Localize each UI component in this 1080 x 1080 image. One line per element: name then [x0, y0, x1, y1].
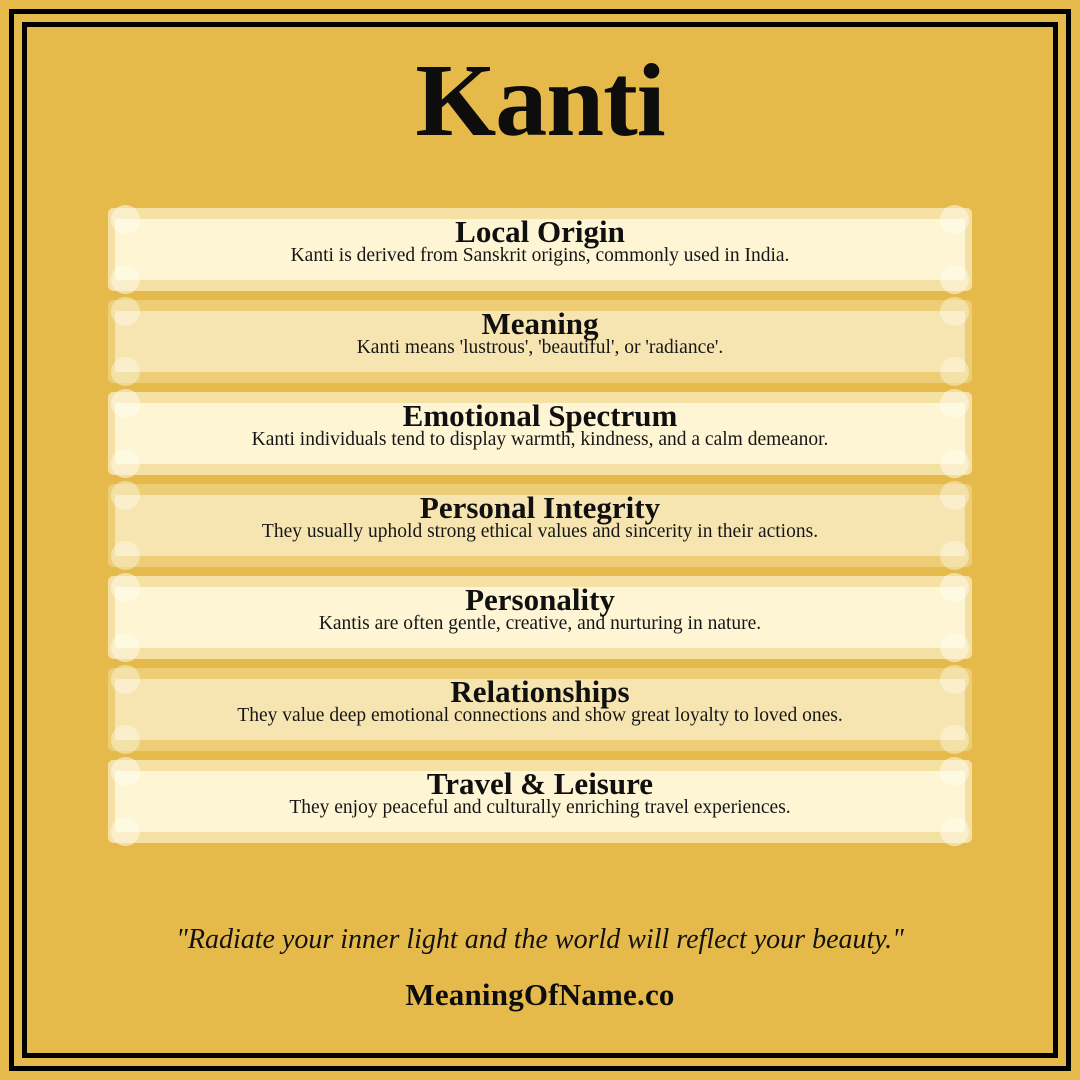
card-title: Local Origin — [132, 216, 948, 248]
card-text-block: Personal Integrity They usually uphold s… — [132, 484, 948, 567]
card-title: Travel & Leisure — [132, 768, 948, 800]
info-card: Emotional Spectrum Kanti individuals ten… — [108, 392, 972, 475]
card-title: Personal Integrity — [132, 492, 948, 524]
info-card: Relationships They value deep emotional … — [108, 668, 972, 751]
card-text-block: Relationships They value deep emotional … — [132, 668, 948, 751]
info-card: Personal Integrity They usually uphold s… — [108, 484, 972, 567]
card-description: They usually uphold strong ethical value… — [132, 522, 948, 542]
card-text-block: Travel & Leisure They enjoy peaceful and… — [132, 760, 948, 843]
poster-content: Kanti Local Origin Kanti is derived from… — [27, 27, 1053, 1053]
info-card: Personality Kantis are often gentle, cre… — [108, 576, 972, 659]
card-title: Personality — [132, 584, 948, 616]
info-card: Local Origin Kanti is derived from Sansk… — [108, 208, 972, 291]
card-text-block: Personality Kantis are often gentle, cre… — [132, 576, 948, 659]
card-text-block: Local Origin Kanti is derived from Sansk… — [132, 208, 948, 291]
card-description: Kantis are often gentle, creative, and n… — [132, 614, 948, 634]
card-text-block: Emotional Spectrum Kanti individuals ten… — [132, 392, 948, 475]
card-title: Emotional Spectrum — [132, 400, 948, 432]
card-text-block: Meaning Kanti means 'lustrous', 'beautif… — [132, 300, 948, 383]
info-card: Travel & Leisure They enjoy peaceful and… — [108, 760, 972, 843]
card-title: Relationships — [132, 676, 948, 708]
footer-quote: "Radiate your inner light and the world … — [27, 924, 1053, 956]
card-description: Kanti means 'lustrous', 'beautiful', or … — [132, 338, 948, 358]
card-description: Kanti individuals tend to display warmth… — [132, 430, 948, 450]
card-title: Meaning — [132, 308, 948, 340]
card-description: They enjoy peaceful and culturally enric… — [132, 798, 948, 818]
info-card-list: Local Origin Kanti is derived from Sansk… — [108, 208, 972, 852]
info-card: Meaning Kanti means 'lustrous', 'beautif… — [108, 300, 972, 383]
card-description: Kanti is derived from Sanskrit origins, … — [132, 246, 948, 266]
poster-root: Kanti Local Origin Kanti is derived from… — [0, 0, 1080, 1080]
page-title: Kanti — [27, 45, 1053, 157]
footer-site-name: MeaningOfName.co — [27, 977, 1053, 1013]
card-description: They value deep emotional connections an… — [132, 706, 948, 726]
